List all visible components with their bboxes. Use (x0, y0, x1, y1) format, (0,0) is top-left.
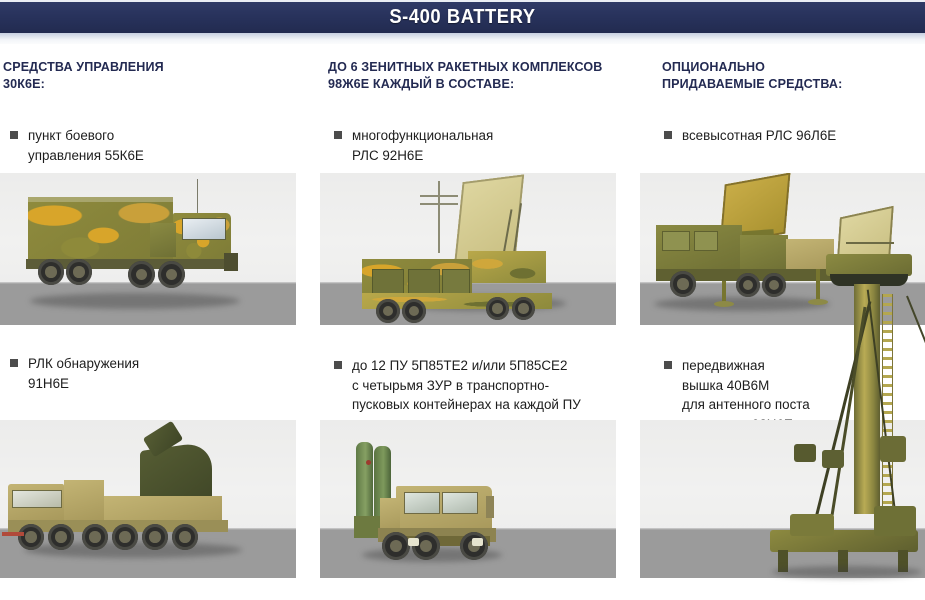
wheel (142, 524, 168, 550)
whip-antenna (197, 179, 198, 213)
bullet-launchers: до 12 ПУ 5П85ТЕ2 и/или 5П85СЕ2 с четырьм… (334, 356, 634, 415)
wheel (18, 524, 44, 550)
rear-module (786, 239, 834, 269)
column-2-heading: ДО 6 ЗЕНИТНЫХ РАКЕТНЫХ КОМПЛЕКСОВ 98Ж6Е … (328, 59, 613, 92)
cab-windshield (442, 492, 478, 514)
wheel (158, 261, 185, 288)
trailer-deck (104, 496, 222, 522)
wheel (82, 524, 108, 550)
outrigger-jack (816, 269, 820, 301)
tractor-body (64, 480, 104, 520)
headlight (408, 538, 419, 546)
wheel (460, 532, 488, 560)
wheel (48, 524, 74, 550)
cabin-hatch (408, 269, 440, 295)
wheel (670, 271, 696, 297)
bullet-square-icon (664, 131, 672, 139)
wheel (38, 259, 64, 285)
wheel (66, 259, 92, 285)
wheel (512, 297, 535, 320)
wheel (736, 273, 760, 297)
cab-window-strip (12, 490, 62, 508)
cross-antenna-bar (420, 203, 458, 205)
bullet-all-altitude-radar: всевысотная РЛС 96Л6Е (664, 126, 924, 146)
headlight (472, 538, 483, 546)
wheel (486, 297, 509, 320)
equipment-box (740, 235, 788, 271)
command-antenna-mast (438, 181, 440, 253)
cabin-window (662, 231, 690, 251)
column-1-heading-line1: СРЕДСТВА УПРАВЛЕНИЯ (3, 59, 279, 76)
front-bumper (224, 253, 238, 271)
wheel (412, 532, 440, 560)
column-3-heading-line1: ОПЦИОНАЛЬНО (662, 59, 909, 76)
column-1-heading-line2: 30К6Е: (3, 76, 279, 93)
launcher-body (380, 498, 400, 530)
page-title: S-400 BATTERY (389, 6, 535, 29)
front-marker (2, 532, 24, 536)
bullet-command-post: пункт боевого управления 55К6Е (10, 126, 290, 165)
bullet-square-icon (10, 131, 18, 139)
wheel (172, 524, 198, 550)
outrigger-pad (808, 299, 828, 305)
bullet-square-icon (334, 131, 342, 139)
bullet-square-icon (664, 361, 672, 369)
cab-windshield (182, 218, 226, 240)
bullet-command-post-text: пункт боевого управления 55К6Е (28, 126, 144, 165)
header-gloss (0, 33, 925, 44)
bullet-square-icon (10, 359, 18, 367)
photo-mast-40v6m (640, 420, 925, 578)
vehicle-shadow (30, 293, 240, 309)
ground-band (640, 528, 925, 578)
outrigger-pad (714, 301, 734, 307)
photo-launcher-5p85te2 (320, 420, 616, 578)
cab-windshield (404, 492, 440, 514)
cabin-hatch (442, 269, 470, 295)
bullet-engagement-radar: многофункциональная РЛС 92Н6Е (334, 126, 619, 165)
outrigger-jack (722, 281, 726, 303)
radar-rear-body (468, 251, 546, 283)
vehicle-shadow (654, 297, 830, 311)
shelter-roof-highlight (28, 197, 173, 202)
column-1-heading: СРЕДСТВА УПРАВЛЕНИЯ 30К6Е: (3, 59, 279, 92)
wheel (376, 299, 400, 323)
column-2-heading-line1: ДО 6 ЗЕНИТНЫХ РАКЕТНЫХ КОМПЛЕКСОВ (328, 59, 613, 76)
column-3-heading: ОПЦИОНАЛЬНО ПРИДАВАЕМЫЕ СРЕДСТВА: (662, 59, 909, 92)
wheel (402, 299, 426, 323)
column-3-heading-line2: ПРИДАВАЕМЫЕ СРЕДСТВА: (662, 76, 909, 93)
bullet-engagement-radar-text: многофункциональная РЛС 92Н6Е (352, 126, 493, 165)
cabin-hatch (372, 269, 404, 295)
bullet-all-altitude-radar-text: всевысотная РЛС 96Л6Е (682, 126, 836, 146)
canister-marking (366, 460, 371, 465)
column-2-heading-line2: 98Ж6Е КАЖДЫЙ В СОСТАВЕ: (328, 76, 613, 93)
title-bar: S-400 BATTERY (0, 2, 925, 33)
cabin-window (694, 231, 718, 251)
bullet-launchers-text: до 12 ПУ 5П85ТЕ2 и/или 5П85СЕ2 с четырьм… (352, 356, 581, 415)
bullet-acquisition-radar: РЛК обнаружения 91Н6Е (10, 354, 290, 393)
infographic-page: S-400 BATTERY СРЕДСТВА УПРАВЛЕНИЯ 30К6Е:… (0, 0, 925, 600)
wheel (128, 261, 155, 288)
photo-radar-96l6e (640, 173, 925, 325)
bullet-acquisition-radar-text: РЛК обнаружения 91Н6Е (28, 354, 139, 393)
photo-radar-91n6e (0, 420, 296, 578)
engine-hood (150, 223, 176, 257)
cross-antenna-bar (420, 195, 458, 197)
header: S-400 BATTERY (0, 0, 925, 44)
wheel (382, 532, 410, 560)
photo-radar-92n6e (320, 173, 616, 325)
photo-command-post-55k6e (0, 173, 296, 325)
side-mirror (486, 496, 494, 518)
wheel (762, 273, 786, 297)
wheel (112, 524, 138, 550)
bullet-square-icon (334, 361, 342, 369)
